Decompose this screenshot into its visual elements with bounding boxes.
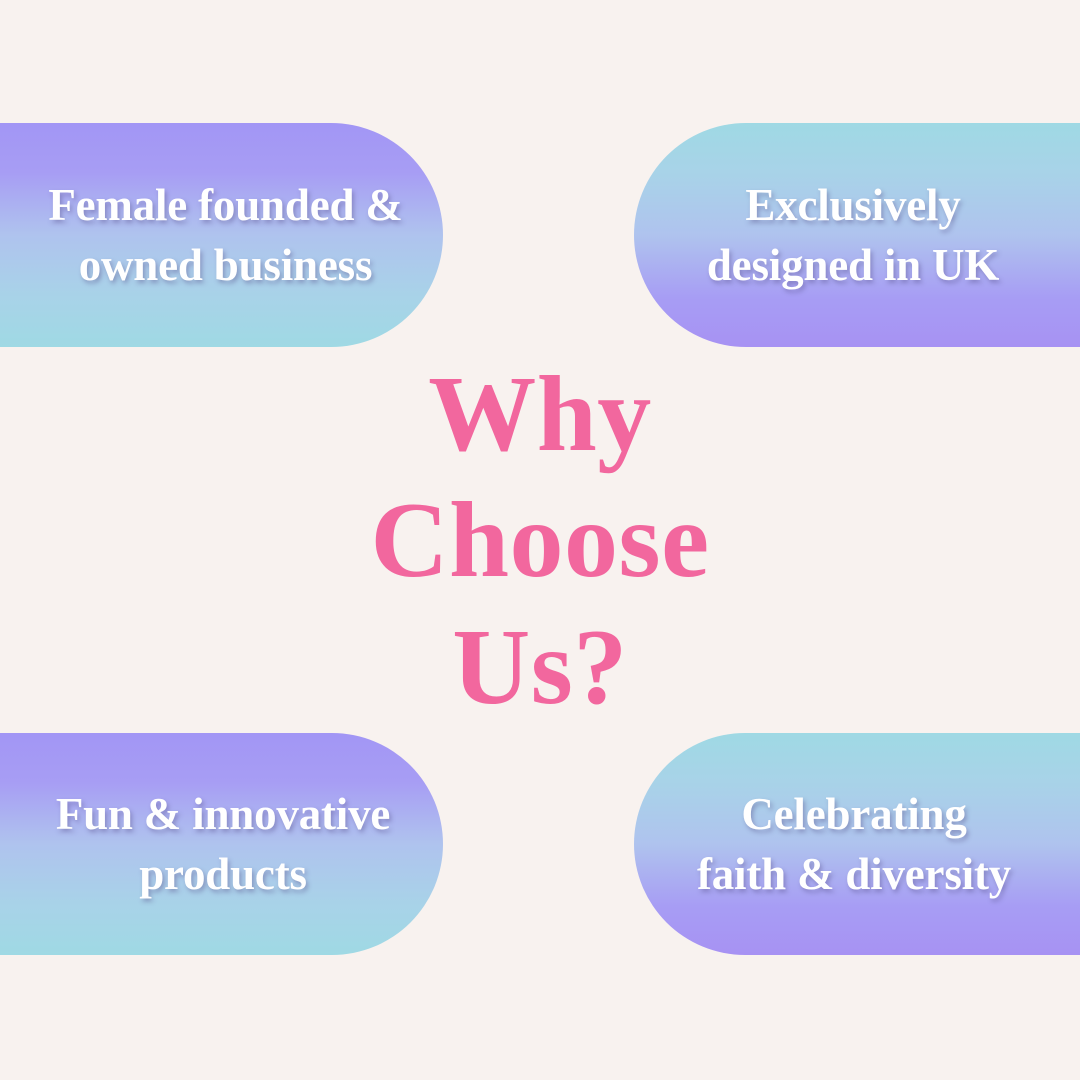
headline-line-1: Why — [428, 352, 652, 478]
benefit-pill-designed-in-uk: Exclusively designed in UK — [634, 123, 1080, 347]
benefit-pill-female-founded: Female founded & owned business — [0, 123, 443, 347]
why-choose-us-graphic: Female founded & owned business Exclusiv… — [0, 0, 1080, 1080]
benefit-pill-fun-innovative-label: Fun & innovative products — [8, 784, 438, 905]
headline-why-choose-us: Why Choose Us? — [0, 352, 1080, 718]
benefit-pill-faith-diversity: Celebrating faith & diversity — [634, 733, 1080, 955]
headline-line-2: Choose — [370, 478, 709, 604]
benefit-pill-designed-in-uk-label: Exclusively designed in UK — [634, 175, 1072, 296]
benefit-pill-female-founded-label: Female founded & owned business — [8, 175, 443, 296]
headline-line-3: Us? — [452, 605, 628, 731]
benefit-pill-fun-innovative: Fun & innovative products — [0, 733, 443, 955]
benefit-pill-faith-diversity-label: Celebrating faith & diversity — [634, 784, 1074, 905]
